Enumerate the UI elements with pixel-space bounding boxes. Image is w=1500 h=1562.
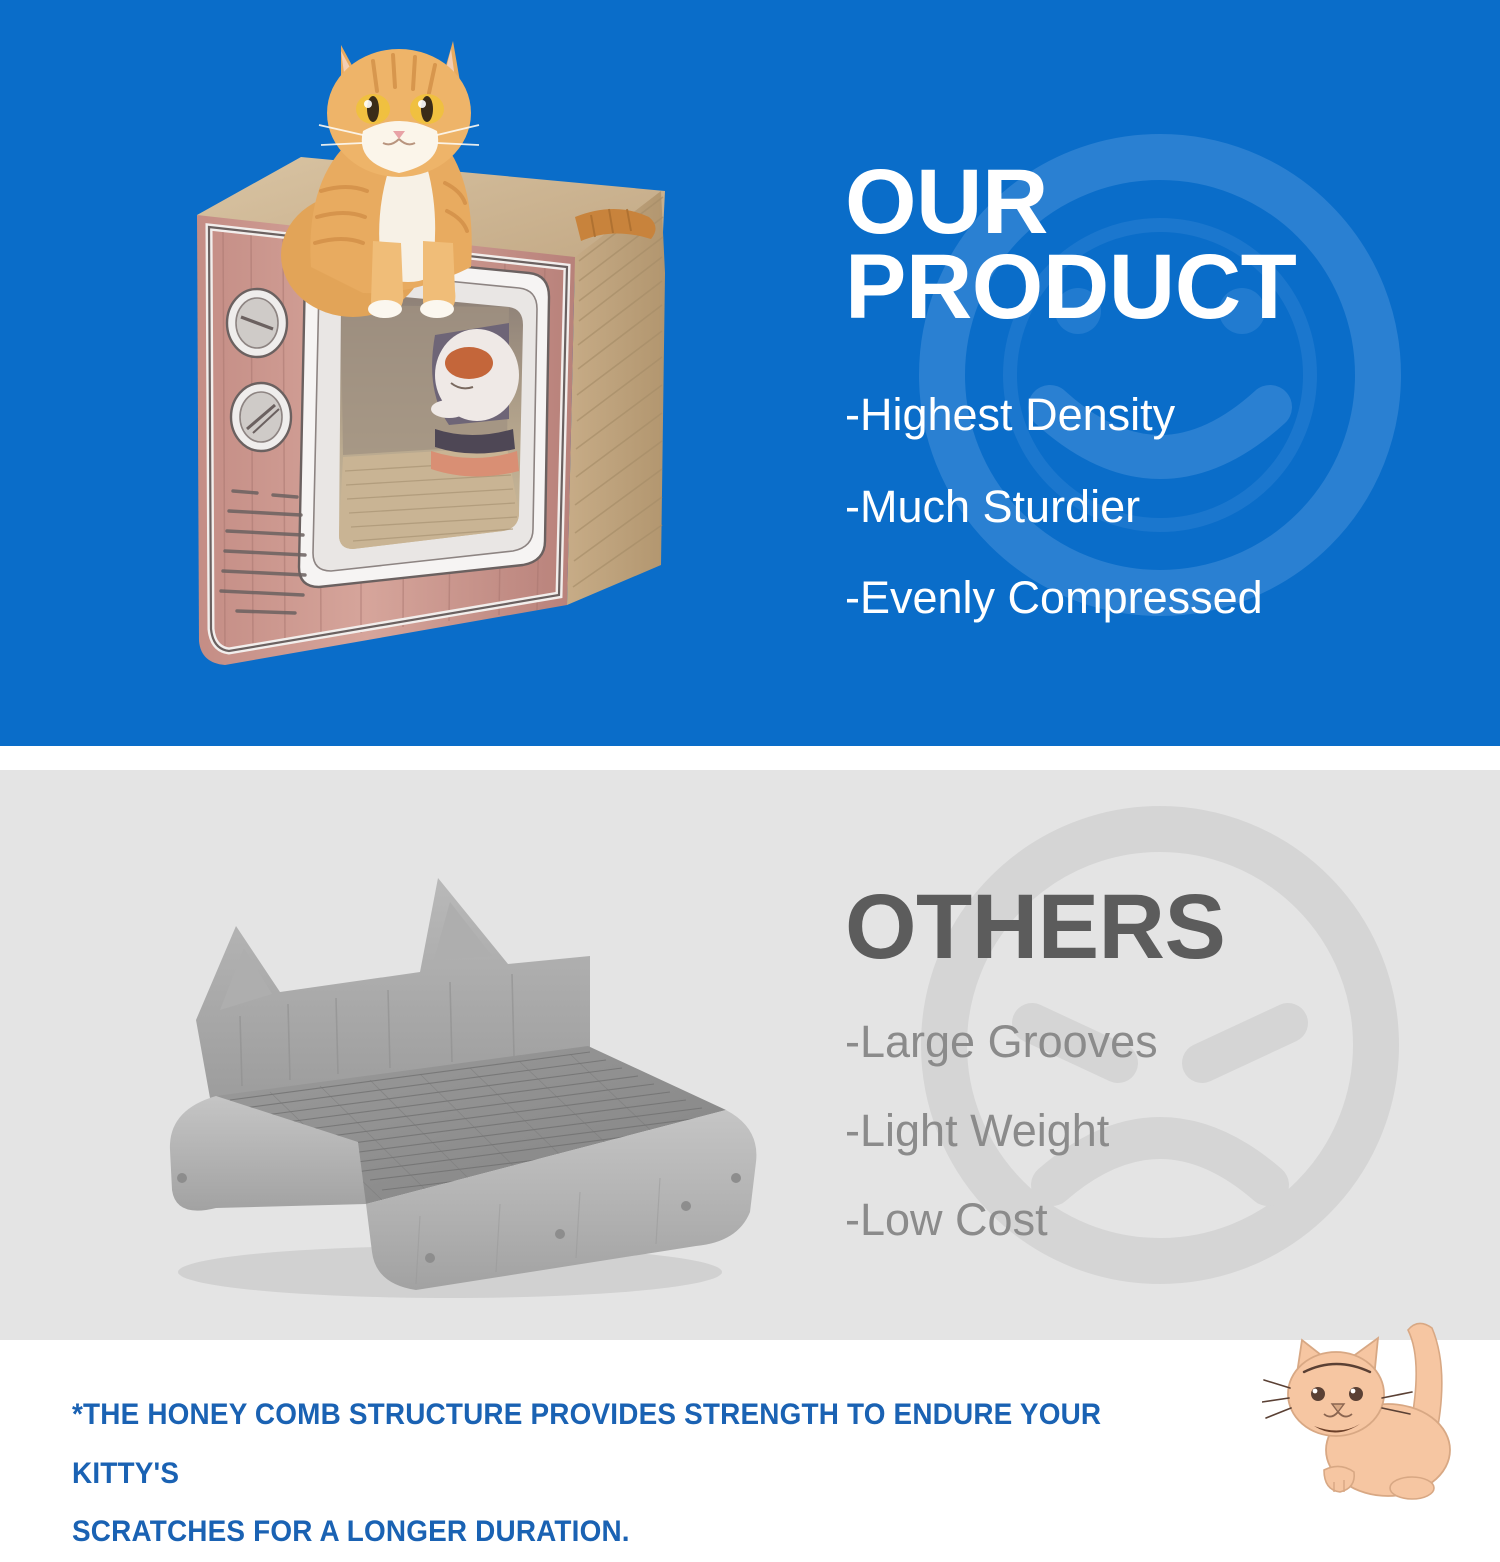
product-feature-item: -Evenly Compressed (845, 574, 1465, 621)
others-text-block: OTHERS -Large Grooves -Light Weight -Low… (845, 885, 1465, 1285)
others-feature-item: -Low Cost (845, 1196, 1465, 1243)
cartoon-cat-mascot (1262, 1322, 1472, 1502)
footer-disclaimer-line1: *THE HONEY COMB STRUCTURE PROVIDES STREN… (72, 1386, 1169, 1503)
product-headline-line1: OUR (845, 160, 1465, 245)
product-headline: OUR PRODUCT (845, 160, 1465, 329)
footer-disclaimer: *THE HONEY COMB STRUCTURE PROVIDES STREN… (72, 1386, 1169, 1562)
our-product-panel: OUR PRODUCT -Highest Density -Much Sturd… (0, 0, 1500, 746)
product-photo-tv-scratcher (105, 5, 715, 715)
others-headline-line1: OTHERS (845, 885, 1465, 970)
others-feature-item: -Light Weight (845, 1107, 1465, 1154)
others-headline: OTHERS (845, 885, 1465, 970)
others-photo-gray-scratcher (120, 860, 780, 1310)
others-panel: OTHERS -Large Grooves -Light Weight -Low… (0, 770, 1500, 1340)
footer-disclaimer-line2: SCRATCHES FOR A LONGER DURATION. (72, 1503, 1169, 1562)
product-feature-item: -Much Sturdier (845, 483, 1465, 530)
others-feature-item: -Large Grooves (845, 1018, 1465, 1065)
product-text-block: OUR PRODUCT -Highest Density -Much Sturd… (845, 160, 1465, 665)
product-headline-line2: PRODUCT (845, 245, 1465, 330)
others-feature-list: -Large Grooves -Light Weight -Low Cost (845, 1018, 1465, 1244)
product-feature-list: -Highest Density -Much Sturdier -Evenly … (845, 391, 1465, 621)
product-feature-item: -Highest Density (845, 391, 1465, 438)
